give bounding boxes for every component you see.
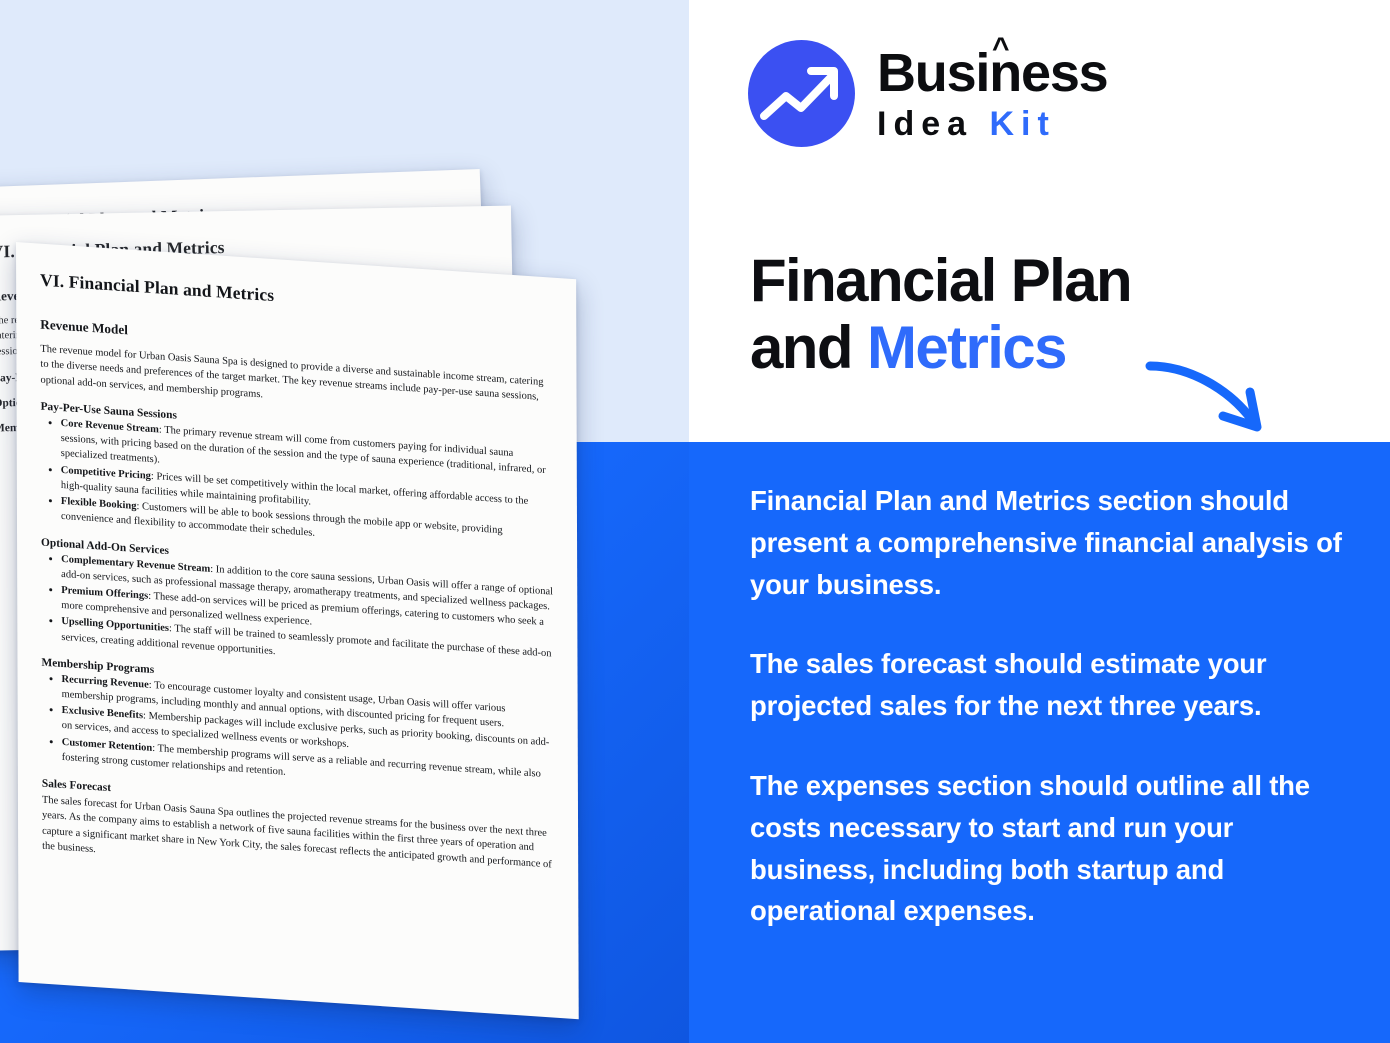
copy-paragraph-1: Financial Plan and Metrics section shoul…: [750, 480, 1350, 605]
copy-paragraph-2: The sales forecast should estimate your …: [750, 643, 1350, 727]
description-copy: Financial Plan and Metrics section shoul…: [750, 480, 1350, 932]
brand-word-idea-kit: Idea Kit: [877, 107, 1108, 141]
list-item-term: Flexible Booking: [61, 496, 137, 512]
list-item-term: Recurring Revenue: [62, 674, 149, 691]
page-title-line-2-plain: and: [750, 314, 867, 381]
document-body: VI. Financial Plan and Metrics Revenue M…: [16, 242, 579, 1019]
document-page-front: VI. Financial Plan and Metrics Revenue M…: [16, 242, 579, 1019]
document-forecast-block: Sales Forecast The sales forecast for Ur…: [42, 778, 554, 888]
brand-word-idea-label: Idea: [877, 105, 973, 143]
document-stack: VI. Financial Plan and Metrics Revenue M…: [0, 150, 750, 990]
list-item-term: Competitive Pricing: [61, 465, 151, 482]
circumflex-accent-icon: ^: [992, 34, 1008, 64]
list-item-term: Core Revenue Stream: [61, 418, 159, 436]
page-title-accent: Metrics: [867, 314, 1066, 381]
list-item-term: Customer Retention: [62, 737, 153, 754]
list-item-term: Premium Offerings: [61, 585, 148, 602]
brand-word-business: Business ^: [877, 46, 1108, 100]
page-title-line-1: Financial Plan: [750, 247, 1310, 314]
brand-logo-text: Business ^ Idea Kit: [877, 46, 1108, 141]
trend-up-arrow-icon: [748, 40, 855, 147]
document-title: VI. Financial Plan and Metrics: [40, 270, 552, 325]
list-item-term: Exclusive Benefits: [62, 705, 143, 721]
brand-word-kit-label: Kit: [990, 105, 1056, 143]
curved-arrow-icon: [1140, 348, 1300, 448]
brand-logo: Business ^ Idea Kit: [748, 40, 1108, 147]
copy-paragraph-3: The expenses section should outline all …: [750, 765, 1350, 932]
slide-canvas: VI. Financial Plan and Metrics Revenue M…: [0, 0, 1390, 1043]
